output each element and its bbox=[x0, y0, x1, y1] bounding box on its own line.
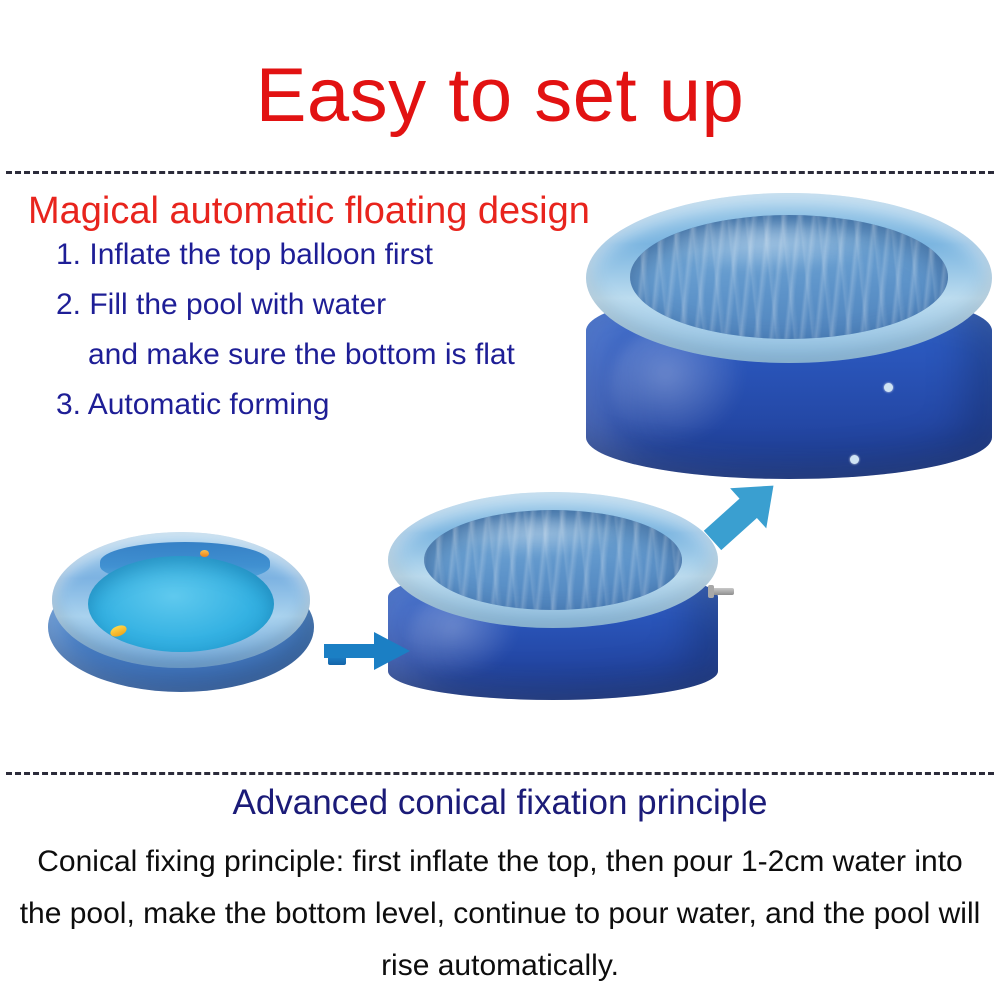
infographic-page: Easy to set up Magical automatic floatin… bbox=[0, 0, 1000, 1000]
pool-inflatable-ring bbox=[388, 492, 718, 628]
valve-dot-icon bbox=[884, 383, 893, 392]
arrow-right-icon bbox=[322, 628, 414, 674]
drain-valve-icon bbox=[712, 588, 734, 595]
list-item: 2. Fill the pool with water bbox=[56, 288, 616, 322]
pool-inflatable-ring bbox=[586, 193, 992, 363]
pool-water bbox=[424, 510, 682, 610]
section-one-heading: Magical automatic floating design bbox=[28, 188, 590, 234]
deflated-flat-pool-illustration bbox=[48, 528, 314, 702]
list-item: 3. Automatic forming bbox=[56, 388, 616, 422]
water-sheen bbox=[655, 222, 878, 272]
fully-formed-pool-illustration bbox=[586, 193, 992, 483]
pool-water bbox=[630, 215, 948, 339]
water-sheen bbox=[445, 516, 626, 556]
steps-list: 1. Inflate the top balloon first 2. Fill… bbox=[56, 238, 616, 438]
divider-bottom bbox=[6, 772, 994, 775]
page-title: Easy to set up bbox=[0, 54, 1000, 138]
orange-valve-icon bbox=[200, 550, 209, 557]
pool-water bbox=[88, 556, 274, 652]
divider-top bbox=[6, 171, 994, 174]
valve-dot-icon bbox=[850, 455, 859, 464]
partially-filled-pool-illustration bbox=[388, 492, 718, 704]
section-two-paragraph: Conical fixing principle: first inflate … bbox=[18, 836, 982, 992]
section-two-heading: Advanced conical fixation principle bbox=[0, 782, 1000, 824]
list-item: 1. Inflate the top balloon first bbox=[56, 238, 616, 272]
list-item: and make sure the bottom is flat bbox=[88, 338, 616, 372]
arrow-up-right-icon bbox=[700, 470, 786, 556]
